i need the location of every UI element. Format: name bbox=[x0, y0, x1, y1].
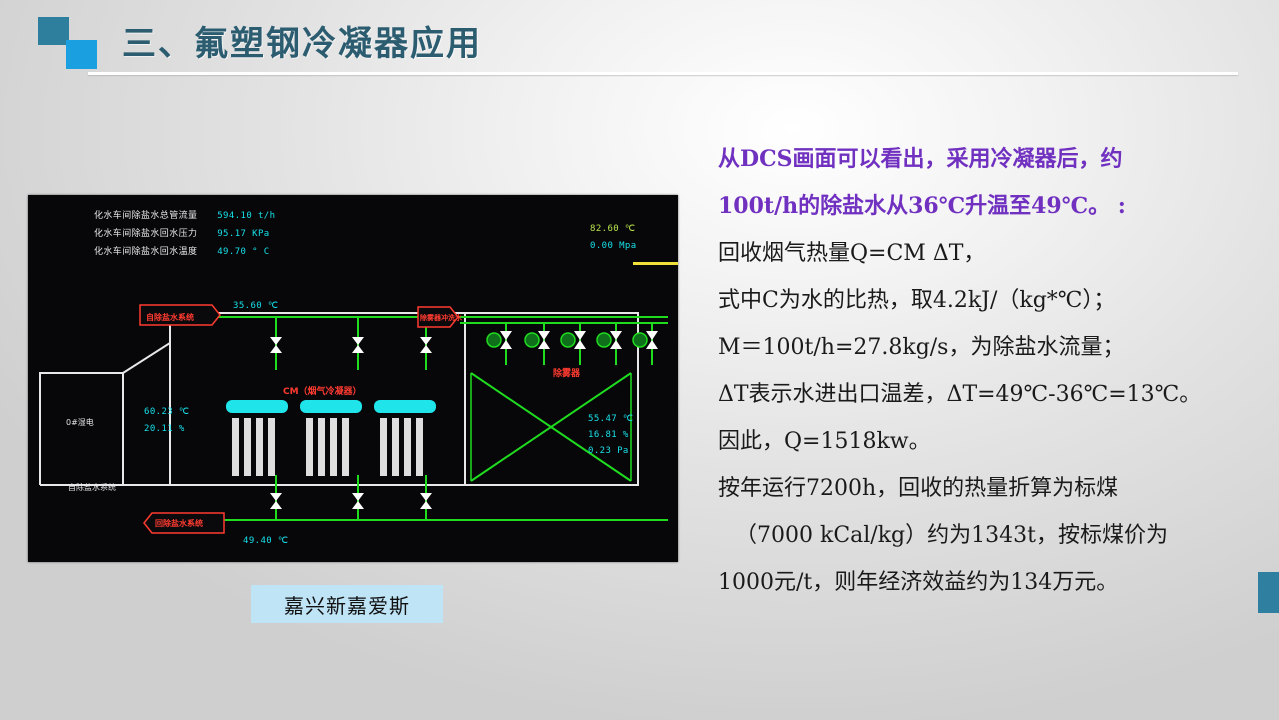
condenser-label: CM（烟气冷凝器） bbox=[283, 384, 362, 397]
body-line-6: 因此，Q=1518kw。 bbox=[718, 418, 1266, 465]
pump-icons bbox=[487, 333, 647, 347]
photo-caption: 嘉兴新嘉爱斯 bbox=[251, 585, 443, 623]
right-stack-value-1: 16.81 % bbox=[588, 430, 629, 440]
valve-icons-top bbox=[270, 337, 432, 353]
logo-square-dark bbox=[38, 17, 69, 45]
dcs-screen-photo: 化水车间除盐水总管流量 594.10 t/h 化水车间除盐水回水压力 95.17… bbox=[28, 195, 678, 562]
body-line-1: 100t/h的除盐水从36℃升温至49℃。 : bbox=[718, 183, 1266, 230]
slide-canvas: 三、氟塑钢冷凝器应用 化水车间除盐水总管流量 594.10 t/h 化水车间除盐… bbox=[0, 0, 1279, 720]
duct-outline bbox=[40, 313, 638, 485]
body-line-0: 从DCS画面可以看出，采用冷凝器后，约 bbox=[718, 136, 1266, 183]
demister-label: 除雾器 bbox=[553, 366, 580, 379]
logo-squares-icon bbox=[38, 17, 104, 67]
right-stack-value-0: 55.47 ℃ bbox=[588, 414, 633, 424]
logo-square-light bbox=[66, 40, 97, 69]
page-title: 三、氟塑钢冷凝器应用 bbox=[122, 16, 482, 65]
wesp-label: 0#湿电 bbox=[66, 417, 94, 428]
tag-wash-label: 除雾器冲洗水 bbox=[420, 313, 462, 323]
inlet-temp-value: 35.60 ℃ bbox=[233, 301, 278, 311]
title-divider bbox=[88, 72, 1238, 75]
valve-icons-bottom bbox=[270, 493, 432, 509]
body-line-4: M＝100t/h=27.8kg/s，为除盐水流量； bbox=[718, 324, 1266, 371]
condenser-bundles bbox=[226, 400, 436, 476]
tag-inlet-label: 自除盐水系统 bbox=[146, 312, 194, 323]
desalt-system-label: 自除盐水系统 bbox=[68, 482, 116, 493]
right-accent-block bbox=[1258, 572, 1279, 613]
tag-return-label: 回除盐水系统 bbox=[155, 518, 203, 529]
body-line-7: 按年运行7200h，回收的热量折算为标煤 bbox=[718, 465, 1266, 512]
body-text-block: 从DCS画面可以看出，采用冷凝器后，约 100t/h的除盐水从36℃升温至49℃… bbox=[718, 136, 1266, 606]
right-stack-value-2: 0.23 Pa bbox=[588, 446, 629, 456]
body-line-3: 式中C为水的比热，取4.2kJ/（kg*℃）； bbox=[718, 277, 1266, 324]
left-stack-value-1: 20.11 % bbox=[144, 424, 185, 434]
body-line-5: ΔT表示水进出口温差，ΔT=49℃-36℃=13℃。 bbox=[718, 371, 1266, 418]
dcs-schematic bbox=[28, 195, 678, 562]
body-line-9: 1000元/t，则年经济效益约为134万元。 bbox=[718, 559, 1266, 606]
body-line-2: 回收烟气热量Q=CM ΔT， bbox=[718, 230, 1266, 277]
body-line-8: （7000 kCal/kg）约为1343t，按标煤价为 bbox=[718, 512, 1266, 559]
outlet-temp-value: 49.40 ℃ bbox=[243, 536, 288, 546]
left-stack-value-0: 60.23 ℃ bbox=[144, 407, 189, 417]
